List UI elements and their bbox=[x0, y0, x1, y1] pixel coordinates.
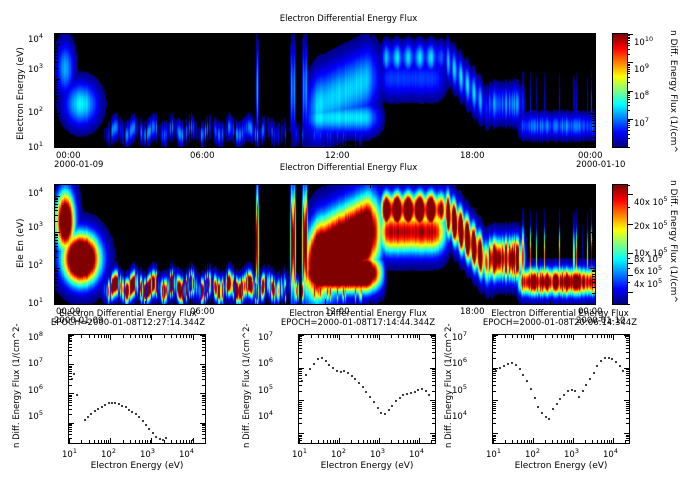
axis-tick bbox=[373, 440, 374, 443]
top-colorbar[interactable] bbox=[613, 34, 627, 147]
lp0-xlabel: Electron Energy (eV) bbox=[68, 461, 206, 471]
mid-spectrogram-tick bbox=[55, 246, 58, 247]
mid-colorbar-label: n Diff. Energy Flux (1/(cm^ bbox=[668, 180, 678, 303]
axis-tick bbox=[358, 440, 359, 443]
mid-spectrogram-image[interactable] bbox=[55, 185, 595, 304]
top-spectrogram-tick bbox=[590, 147, 595, 148]
axis-tick bbox=[299, 345, 302, 346]
axis-tick bbox=[626, 369, 629, 370]
axis-tick bbox=[432, 348, 435, 349]
axis-tick bbox=[432, 391, 435, 392]
data-point bbox=[114, 402, 116, 404]
mid-colorbar-tick bbox=[627, 268, 630, 269]
top-colorbar-tick bbox=[627, 38, 630, 39]
mid-spectrogram-tick bbox=[55, 299, 56, 304]
axis-tick bbox=[327, 440, 328, 443]
axis-tick bbox=[186, 440, 187, 443]
axis-tick bbox=[419, 438, 420, 443]
axis-tick bbox=[164, 440, 165, 443]
top-spectrogram-tick bbox=[55, 52, 58, 53]
axis-tick bbox=[299, 438, 302, 439]
data-point bbox=[548, 418, 550, 420]
axis-tick bbox=[561, 335, 562, 338]
axis-tick bbox=[123, 335, 124, 338]
axis-tick bbox=[202, 402, 205, 403]
axis-tick bbox=[493, 413, 496, 414]
axis-tick bbox=[335, 335, 336, 338]
top-colorbar-tick bbox=[627, 77, 630, 78]
axis-tick bbox=[180, 440, 181, 443]
top-colorbar-label: n Diff. Energy Flux (1/(cm^ bbox=[668, 30, 678, 153]
data-point bbox=[362, 386, 364, 388]
axis-tick bbox=[493, 440, 496, 441]
axis-tick bbox=[186, 335, 187, 338]
axis-tick bbox=[585, 440, 586, 443]
axis-tick bbox=[339, 335, 340, 340]
mid-spectrogram-tick bbox=[592, 287, 595, 288]
data-point bbox=[619, 365, 621, 367]
axis-tick bbox=[202, 431, 205, 432]
axis-tick bbox=[358, 335, 359, 338]
top-colorbar-tick bbox=[627, 119, 633, 120]
mid-spectrogram-tick bbox=[55, 201, 58, 202]
data-point bbox=[578, 396, 580, 398]
axis-tick bbox=[613, 438, 614, 443]
mid-spectrogram-tick bbox=[592, 210, 595, 211]
axis-tick bbox=[493, 348, 496, 349]
mid-spectrogram-tick bbox=[235, 185, 236, 188]
axis-tick bbox=[624, 400, 629, 401]
top-spectrogram-tick bbox=[55, 48, 58, 49]
top-spectrogram-tick bbox=[592, 55, 595, 56]
axis-tick bbox=[151, 438, 152, 443]
axis-tick bbox=[626, 340, 629, 341]
top-spectrogram-tick bbox=[592, 126, 595, 127]
axis-tick bbox=[626, 375, 629, 376]
axis-tick bbox=[351, 440, 352, 443]
axis-tick bbox=[89, 335, 90, 338]
lp2-plot-area[interactable] bbox=[492, 334, 630, 444]
mid-spectrogram-tick bbox=[55, 232, 60, 233]
axis-tick bbox=[432, 404, 435, 405]
top-ytick-1: 101 bbox=[28, 140, 43, 153]
axis-tick bbox=[417, 440, 418, 443]
top-cb-tick-9: 109 bbox=[634, 62, 649, 75]
axis-tick bbox=[69, 402, 72, 403]
axis-tick bbox=[110, 438, 111, 443]
mid-colorbar-tick bbox=[627, 258, 630, 259]
top-spectrogram-tick bbox=[55, 114, 58, 115]
axis-tick bbox=[299, 408, 302, 409]
axis-tick bbox=[601, 440, 602, 443]
data-point bbox=[336, 370, 338, 372]
axis-tick bbox=[193, 438, 194, 443]
axis-tick bbox=[69, 409, 72, 410]
mid-panel-title: Electron Differential Energy Flux bbox=[0, 163, 697, 173]
data-point bbox=[145, 424, 147, 426]
lp0-xtick-4: 104 bbox=[179, 447, 194, 460]
mid-spectrogram-tick bbox=[592, 199, 595, 200]
axis-tick bbox=[432, 342, 435, 343]
top-spectrogram-tick bbox=[590, 44, 595, 45]
axis-tick bbox=[607, 440, 608, 443]
axis-tick bbox=[597, 440, 598, 443]
top-colorbar-tick bbox=[627, 130, 630, 131]
axis-tick bbox=[585, 335, 586, 338]
top-spectrogram-tick bbox=[592, 58, 595, 59]
mid-spectrogram-tick bbox=[550, 301, 551, 304]
top-colorbar-tick bbox=[627, 34, 633, 35]
mid-spectrogram-tick bbox=[370, 185, 371, 188]
top-spectrogram-tick bbox=[55, 58, 58, 59]
axis-tick bbox=[299, 335, 304, 336]
axis-tick bbox=[398, 335, 399, 338]
axis-tick bbox=[337, 335, 338, 338]
axis-tick bbox=[189, 335, 190, 338]
data-point bbox=[507, 363, 509, 365]
axis-tick bbox=[432, 338, 435, 339]
lp2-xtick-1: 101 bbox=[486, 447, 501, 460]
axis-tick bbox=[176, 440, 177, 443]
axis-tick bbox=[626, 373, 629, 374]
mid-ytick-2: 102 bbox=[28, 258, 43, 271]
top-spectrogram-tick bbox=[55, 84, 58, 85]
top-spectrogram-tick bbox=[55, 116, 58, 117]
axis-tick bbox=[202, 336, 205, 337]
top-spectrogram-tick bbox=[460, 34, 461, 39]
axis-tick bbox=[202, 367, 205, 368]
data-point bbox=[84, 419, 86, 421]
top-spectrogram-tick bbox=[590, 113, 595, 114]
top-spectrogram-tick bbox=[55, 44, 60, 45]
axis-tick bbox=[432, 423, 435, 424]
mid-spectrogram-tick bbox=[592, 243, 595, 244]
axis-tick bbox=[94, 440, 95, 443]
axis-tick bbox=[200, 393, 205, 394]
mid-spectrogram-tick bbox=[592, 271, 595, 272]
top-colorbar-tick bbox=[627, 92, 630, 93]
axis-tick bbox=[139, 335, 140, 338]
axis-tick bbox=[432, 418, 435, 419]
axis-tick bbox=[493, 378, 496, 379]
mid-spectrogram-tick bbox=[100, 185, 101, 188]
mid-spectrogram-tick bbox=[505, 301, 506, 304]
axis-tick bbox=[330, 440, 331, 443]
data-point bbox=[537, 406, 539, 408]
mid-spectrogram-tick bbox=[592, 279, 595, 280]
data-point bbox=[384, 413, 386, 415]
top-spectrogram-tick bbox=[100, 144, 101, 147]
top-colorbar-tick bbox=[627, 82, 630, 83]
top-spectrogram-tick bbox=[592, 102, 595, 103]
axis-tick bbox=[432, 340, 435, 341]
axis-tick bbox=[626, 436, 629, 437]
axis-tick bbox=[432, 373, 435, 374]
mid-spectrogram-tick bbox=[592, 293, 595, 294]
axis-tick bbox=[176, 335, 177, 338]
mid-spectrogram-tick bbox=[235, 301, 236, 304]
axis-tick bbox=[69, 373, 72, 374]
axis-tick bbox=[333, 440, 334, 443]
axis-tick bbox=[567, 335, 568, 338]
axis-tick bbox=[626, 371, 629, 372]
mid-spectrogram-tick bbox=[325, 185, 326, 190]
data-point bbox=[499, 367, 501, 369]
lp2-xlabel: Electron Energy (eV) bbox=[492, 461, 630, 471]
data-point bbox=[155, 436, 157, 438]
top-spectrogram-tick bbox=[55, 34, 56, 39]
top-spectrogram-tick bbox=[550, 144, 551, 147]
axis-tick bbox=[333, 335, 334, 338]
data-point bbox=[365, 391, 367, 393]
mid-colorbar-tick bbox=[627, 185, 630, 186]
top-spectrogram-tick bbox=[325, 34, 326, 39]
data-point bbox=[559, 398, 561, 400]
top-colorbar-tick bbox=[627, 99, 630, 100]
axis-tick bbox=[407, 440, 408, 443]
axis-tick bbox=[299, 381, 302, 382]
axis-tick bbox=[493, 381, 496, 382]
top-spectrogram-tick bbox=[592, 137, 595, 138]
top-spectrogram-tick bbox=[145, 34, 146, 37]
lp0-plot-area[interactable] bbox=[68, 334, 206, 444]
axis-tick bbox=[98, 440, 99, 443]
data-point bbox=[380, 412, 382, 414]
data-point bbox=[428, 394, 430, 396]
axis-tick bbox=[609, 440, 610, 443]
axis-tick bbox=[130, 335, 131, 338]
axis-tick bbox=[69, 423, 74, 424]
axis-tick bbox=[531, 440, 532, 443]
axis-tick bbox=[493, 400, 498, 401]
top-spectrogram-tick bbox=[592, 86, 595, 87]
axis-tick bbox=[189, 440, 190, 443]
top-spectrogram-tick bbox=[592, 92, 595, 93]
axis-tick bbox=[330, 335, 331, 338]
mid-spectrogram-tick bbox=[590, 232, 595, 233]
axis-tick bbox=[98, 335, 99, 338]
data-point bbox=[351, 375, 353, 377]
top-spectrogram-tick bbox=[55, 126, 58, 127]
axis-tick bbox=[569, 440, 570, 443]
mid-colorbar-tick bbox=[627, 282, 630, 283]
mid-spectrogram-tick bbox=[55, 207, 58, 208]
top-colorbar-tick bbox=[627, 120, 630, 121]
axis-tick bbox=[69, 438, 72, 439]
axis-tick bbox=[432, 408, 435, 409]
axis-tick bbox=[413, 335, 414, 338]
axis-tick bbox=[69, 400, 72, 401]
axis-tick bbox=[69, 414, 72, 415]
axis-tick bbox=[564, 440, 565, 443]
axis-tick bbox=[202, 369, 205, 370]
axis-tick bbox=[624, 335, 629, 336]
mid-spectrogram-tick bbox=[55, 251, 58, 252]
axis-tick bbox=[432, 378, 435, 379]
axis-tick bbox=[202, 355, 205, 356]
mid-spectrogram-tick bbox=[592, 235, 595, 236]
lp1-ytick-7: 107 bbox=[258, 330, 273, 343]
data-point bbox=[574, 390, 576, 392]
top-spectrogram-tick bbox=[145, 144, 146, 147]
axis-tick bbox=[81, 335, 82, 338]
lp1-ytick-6: 106 bbox=[258, 356, 273, 369]
mid-colorbar-tick bbox=[627, 224, 633, 225]
axis-tick bbox=[202, 396, 205, 397]
axis-tick bbox=[626, 378, 629, 379]
top-spectrogram-tick bbox=[55, 68, 58, 69]
axis-tick bbox=[69, 405, 72, 406]
axis-tick bbox=[202, 395, 205, 396]
axis-tick bbox=[299, 373, 302, 374]
lp0-ytick-5: 105 bbox=[28, 409, 43, 422]
axis-tick bbox=[318, 335, 319, 338]
axis-tick bbox=[323, 335, 324, 338]
axis-tick bbox=[69, 427, 72, 428]
mid-spectrogram-tick bbox=[460, 299, 461, 304]
axis-tick bbox=[626, 338, 629, 339]
axis-tick bbox=[626, 391, 629, 392]
axis-tick bbox=[493, 336, 496, 337]
mid-spectrogram-tick bbox=[55, 235, 58, 236]
top-colorbar-tick bbox=[627, 43, 630, 44]
mid-spectrogram-tick bbox=[592, 276, 595, 277]
top-ytick-2: 102 bbox=[28, 105, 43, 118]
axis-tick bbox=[69, 431, 72, 432]
top-spectrogram-tick bbox=[592, 96, 595, 97]
axis-tick bbox=[327, 335, 328, 338]
axis-tick bbox=[432, 406, 435, 407]
axis-tick bbox=[202, 373, 205, 374]
axis-tick bbox=[299, 378, 302, 379]
axis-tick bbox=[432, 345, 435, 346]
axis-tick bbox=[337, 440, 338, 443]
axis-tick bbox=[202, 434, 205, 435]
axis-tick bbox=[626, 381, 629, 382]
mid-spectrogram-tick bbox=[415, 301, 416, 304]
top-spectrogram-tick bbox=[592, 68, 595, 69]
axis-tick bbox=[191, 335, 192, 338]
mid-colorbar[interactable] bbox=[613, 185, 627, 304]
top-spectrogram-tick bbox=[592, 84, 595, 85]
axis-tick bbox=[379, 335, 380, 340]
top-spectrogram-tick bbox=[590, 79, 595, 80]
axis-tick bbox=[403, 440, 404, 443]
data-point bbox=[417, 389, 419, 391]
axis-tick bbox=[592, 440, 593, 443]
data-point bbox=[608, 357, 610, 359]
axis-tick bbox=[299, 352, 302, 353]
axis-tick bbox=[626, 406, 629, 407]
mid-spectrogram-tick bbox=[55, 196, 60, 197]
axis-tick bbox=[415, 440, 416, 443]
axis-tick bbox=[202, 338, 205, 339]
axis-tick bbox=[432, 375, 435, 376]
axis-tick bbox=[299, 368, 304, 369]
mid-ytick-4: 104 bbox=[28, 186, 43, 199]
axis-tick bbox=[626, 435, 629, 436]
axis-tick bbox=[407, 335, 408, 338]
top-spectrogram-tick bbox=[100, 34, 101, 37]
data-point bbox=[138, 416, 140, 418]
axis-tick bbox=[413, 440, 414, 443]
axis-tick bbox=[202, 427, 205, 428]
data-point bbox=[545, 416, 547, 418]
axis-tick bbox=[512, 440, 513, 443]
axis-tick bbox=[299, 391, 302, 392]
data-point bbox=[118, 403, 120, 405]
axis-tick bbox=[183, 440, 184, 443]
data-point bbox=[388, 409, 390, 411]
axis-tick bbox=[202, 385, 205, 386]
axis-tick bbox=[531, 335, 532, 338]
axis-tick bbox=[377, 440, 378, 443]
mid-spectrogram-tick bbox=[55, 243, 58, 244]
axis-tick bbox=[69, 424, 72, 425]
axis-tick bbox=[611, 440, 612, 443]
axis-tick bbox=[311, 335, 312, 338]
top-spectrogram-tick bbox=[592, 62, 595, 63]
axis-tick bbox=[626, 413, 629, 414]
data-point bbox=[121, 405, 123, 407]
axis-tick bbox=[69, 366, 72, 367]
mid-spectrogram-tick bbox=[460, 185, 461, 190]
top-colorbar-tick bbox=[627, 102, 630, 103]
axis-tick bbox=[493, 391, 496, 392]
axis-tick bbox=[626, 348, 629, 349]
axis-tick bbox=[200, 364, 205, 365]
top-spectrogram-tick bbox=[55, 131, 58, 132]
mid-spectrogram-tick bbox=[55, 215, 58, 216]
lp1-plot-area[interactable] bbox=[298, 334, 436, 444]
mid-spectrogram-tick bbox=[145, 301, 146, 304]
top-spectrogram-image[interactable] bbox=[55, 34, 595, 147]
axis-tick bbox=[432, 371, 435, 372]
top-spectrogram-tick bbox=[55, 142, 56, 147]
axis-tick bbox=[561, 440, 562, 443]
top-spectrogram-tick bbox=[55, 89, 58, 90]
mid-colorbar-tick bbox=[612, 304, 628, 305]
top-spectrogram-tick bbox=[550, 34, 551, 37]
axis-tick bbox=[410, 440, 411, 443]
axis-tick bbox=[202, 344, 205, 345]
axis-tick bbox=[391, 335, 392, 338]
axis-tick bbox=[171, 335, 172, 338]
axis-tick bbox=[183, 335, 184, 338]
axis-tick bbox=[512, 335, 513, 338]
axis-tick bbox=[626, 385, 629, 386]
axis-tick bbox=[432, 440, 435, 441]
axis-tick bbox=[493, 418, 496, 419]
mid-cb-tick-6: 6x 105 bbox=[634, 264, 662, 277]
lp1-subtitle: EPOCH=2000-01-08T17:14:44.344Z bbox=[250, 318, 466, 328]
lp2-ytick-4: 104 bbox=[452, 409, 467, 422]
axis-tick bbox=[493, 443, 496, 444]
data-point bbox=[321, 357, 323, 359]
top-spectrogram-tick bbox=[55, 118, 58, 119]
top-spectrogram-tick bbox=[55, 96, 58, 97]
mid-spectrogram-tick bbox=[55, 279, 58, 280]
data-point bbox=[615, 361, 617, 363]
top-panel-title: Electron Differential Energy Flux bbox=[0, 14, 697, 24]
axis-tick bbox=[527, 335, 528, 338]
mid-spectrogram-tick bbox=[54, 304, 596, 305]
axis-tick bbox=[493, 342, 496, 343]
axis-tick bbox=[202, 429, 205, 430]
axis-tick bbox=[145, 335, 146, 338]
axis-tick bbox=[517, 440, 518, 443]
axis-tick bbox=[493, 371, 496, 372]
